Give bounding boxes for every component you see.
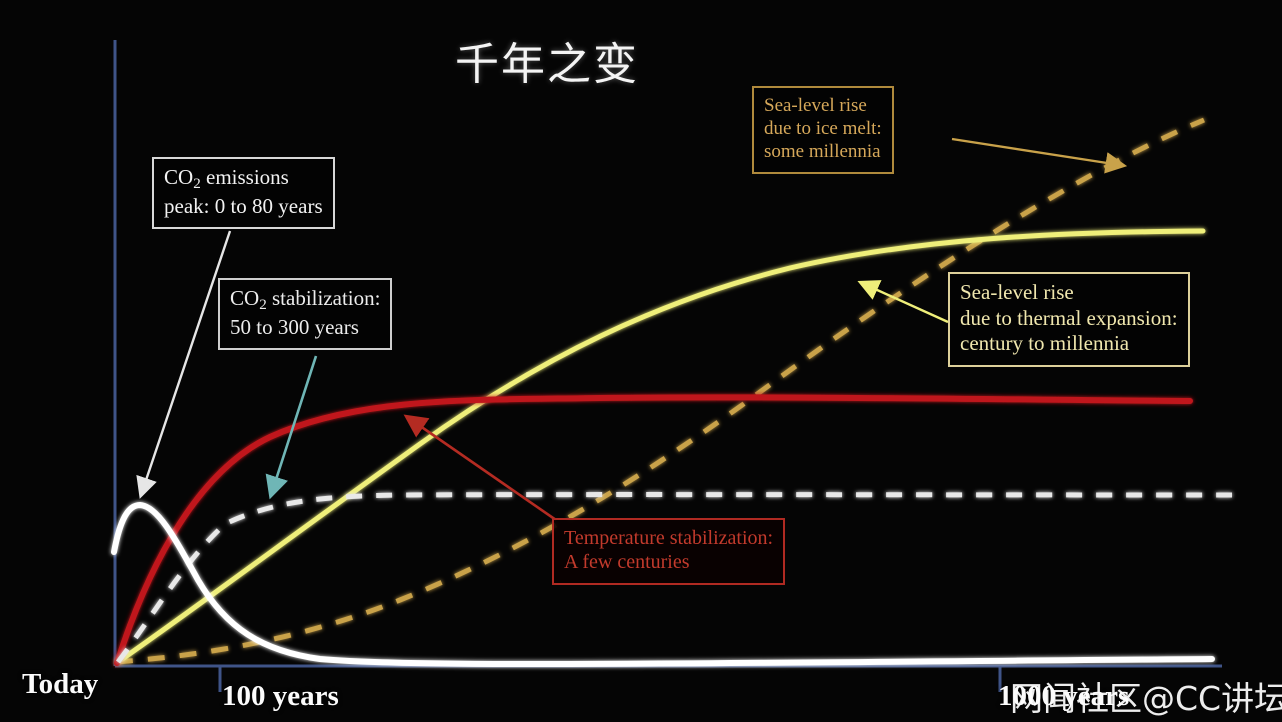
annotation-co2-stab-line2: 50 to 300 years	[230, 315, 359, 339]
annotation-ice-melt-line3: some millennia	[764, 141, 881, 162]
co2-peak-suffix: emissions	[201, 165, 289, 189]
annotation-co2-peak-line1: CO2 emissions	[164, 165, 289, 189]
co2-subscript: 2	[193, 176, 201, 192]
chart-canvas: 千年之变 CO2 emissionspeak: 0 to 80 years CO…	[0, 0, 1282, 722]
annotation-co2-peak: CO2 emissionspeak: 0 to 80 years	[152, 157, 335, 229]
co2-subscript: 2	[259, 297, 267, 313]
annotation-co2-stabilization: CO2 stabilization:50 to 300 years	[218, 278, 392, 350]
co2-text: CO	[230, 286, 259, 310]
annotation-temperature-line1: Temperature stabilization:	[564, 527, 773, 549]
annotation-thermal-line1: Sea-level rise	[960, 280, 1074, 304]
annotation-ice-melt-line2: due to ice melt:	[764, 118, 882, 139]
co2-text: CO	[164, 165, 193, 189]
annotation-thermal-expansion: Sea-level risedue to thermal expansion:c…	[948, 272, 1190, 367]
page-title: 千年之变	[455, 28, 639, 92]
annotation-temperature-line2: A few centuries	[564, 551, 690, 573]
arrow-temperature	[410, 419, 556, 520]
arrow-ice-melt	[952, 139, 1120, 165]
annotation-thermal-line2: due to thermal expansion:	[960, 306, 1178, 330]
annotation-temperature: Temperature stabilization:A few centurie…	[552, 518, 785, 585]
x-axis-label-today: Today	[22, 668, 98, 701]
co2-stab-suffix: stabilization:	[267, 286, 381, 310]
annotation-co2-peak-line2: peak: 0 to 80 years	[164, 194, 323, 218]
watermark: 网闻社区@CC讲坛	[1010, 672, 1282, 720]
annotation-ice-melt-line1: Sea-level rise	[764, 95, 867, 116]
x-axis-label-100-years: 100 years	[222, 680, 339, 713]
arrow-thermal-expansion	[864, 284, 948, 322]
annotation-ice-melt: Sea-level risedue to ice melt:some mille…	[752, 86, 894, 174]
annotation-thermal-line3: century to millennia	[960, 331, 1129, 355]
arrow-co2-peak	[142, 231, 230, 492]
annotation-co2-stab-line1: CO2 stabilization:	[230, 286, 380, 310]
